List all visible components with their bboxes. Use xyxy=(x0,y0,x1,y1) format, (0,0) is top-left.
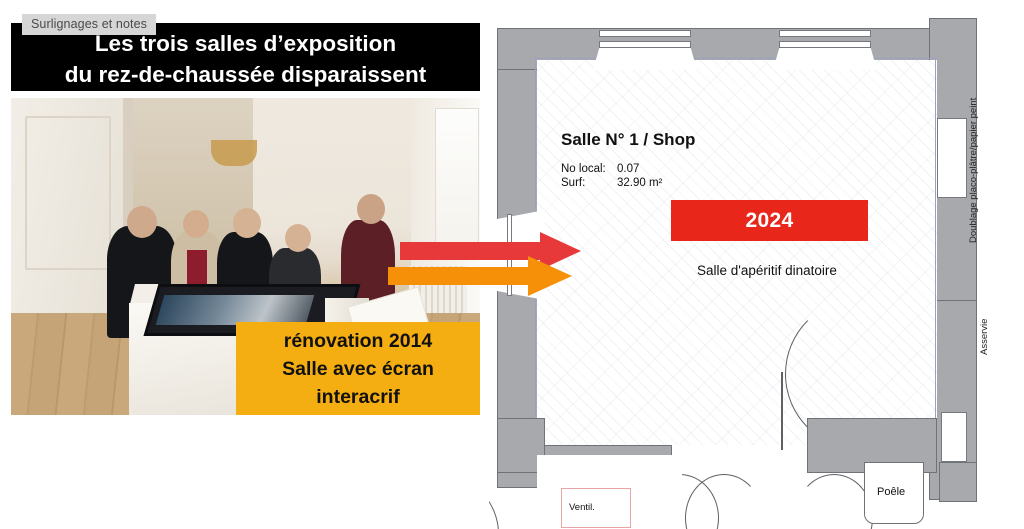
plan-label-poele: Poêle xyxy=(877,486,905,498)
plan-window-top-left-reveal xyxy=(593,48,697,70)
photo-wall-panel xyxy=(25,116,111,270)
annotation-tool-label[interactable]: Surlignages et notes xyxy=(22,14,156,35)
plan-room-usage: Salle d'apéritif dinatoire xyxy=(697,263,837,278)
photo-ceiling-lamp xyxy=(211,140,257,166)
plan-bottom-door-arc-3 xyxy=(795,474,873,529)
plan-window-top-right-reveal xyxy=(773,48,877,70)
photo-person-2-head xyxy=(183,210,209,238)
plan-field-label-0: No local: xyxy=(561,163,606,175)
photo-person-1-head xyxy=(127,206,157,238)
photo-caption-line-2: Salle avec écran xyxy=(236,355,480,383)
photo-person-5-head xyxy=(357,194,385,224)
photo-caption-line-1: rénovation 2014 xyxy=(236,322,480,355)
slide-canvas: Ventil. Poêle Salle N° 1 / Shop No local… xyxy=(0,0,1024,529)
orange-arrow xyxy=(388,254,573,298)
plan-field-value-0: 0.07 xyxy=(617,163,639,175)
plan-room-title: Salle N° 1 / Shop xyxy=(561,130,695,150)
plan-window-top-left-bar-2 xyxy=(599,41,691,48)
photo-person-4-head xyxy=(285,224,311,252)
plan-window-top-right-bar-2 xyxy=(779,41,871,48)
plan-window-top-left-bar-1 xyxy=(599,30,691,37)
title-banner-line-2: du rez-de-chaussée disparaissent xyxy=(11,59,480,90)
plan-right-lower-niche-outline xyxy=(941,412,967,462)
photo-caption-box: rénovation 2014 Salle avec écran interac… xyxy=(236,322,480,415)
plan-vertical-label-doublage: Doublage placo-plâtre/papier peint xyxy=(968,98,979,243)
plan-window-top-right-bar-1 xyxy=(779,30,871,37)
plan-door-leaf xyxy=(781,372,783,450)
plan-right-niche-outline xyxy=(937,118,967,198)
photo-person-3-head xyxy=(233,208,261,238)
plan-field-value-1: 32.90 m² xyxy=(617,177,662,189)
plan-wall-bottom-far-right xyxy=(939,462,977,502)
plan-outline-top xyxy=(535,58,936,59)
photo-screen-image xyxy=(156,295,315,325)
plan-year-highlight: 2024 xyxy=(671,200,868,241)
plan-label-ventil: Ventil. xyxy=(569,502,595,513)
plan-field-label-1: Surf: xyxy=(561,177,585,189)
photo-caption-line-3: interacrif xyxy=(236,383,480,411)
plan-vertical-label-asservie: Asservie xyxy=(979,319,990,355)
plan-year-highlight-text: 2024 xyxy=(746,209,794,233)
